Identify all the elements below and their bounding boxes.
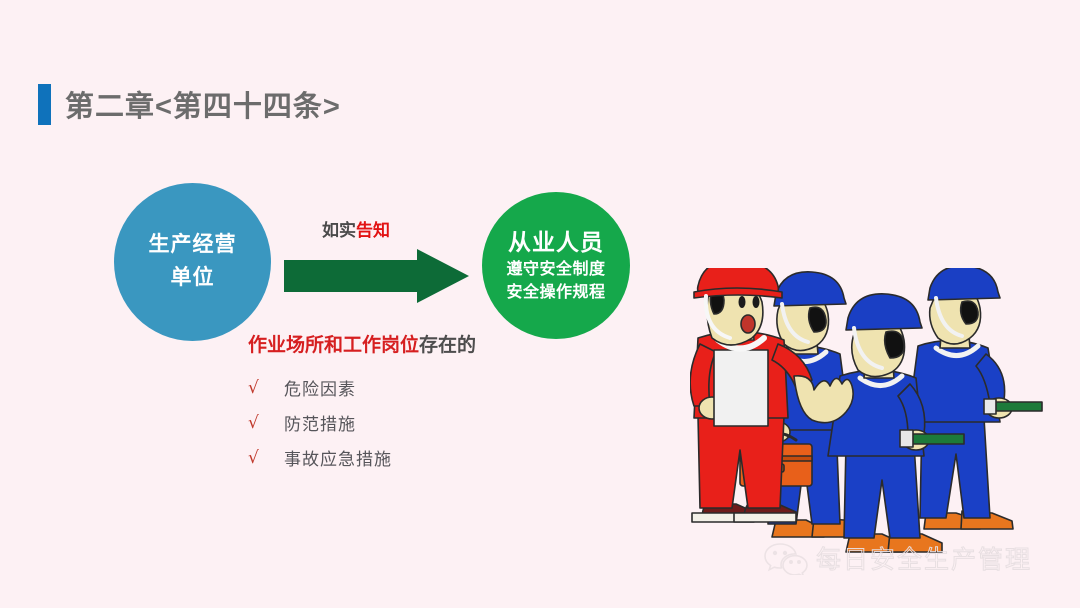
list-item-label: 危险因素 — [284, 375, 356, 400]
diagram-node-source: 生产经营 单位 — [114, 183, 271, 341]
title-accent-bar — [38, 84, 51, 125]
list-item-label: 事故应急措施 — [284, 445, 392, 470]
source-node-line2: 单位 — [171, 262, 215, 295]
arrow-label: 如实告知 — [322, 216, 390, 241]
wechat-icon — [764, 541, 808, 575]
arrow-label-emphasis: 告知 — [356, 221, 390, 240]
page-title: 第二章<第四十四条> — [38, 83, 341, 125]
check-icon: √ — [248, 413, 284, 433]
list-item: √ 事故应急措施 — [248, 440, 528, 475]
target-node-line3: 安全操作规程 — [506, 282, 605, 304]
list-item-label: 防范措施 — [284, 410, 356, 435]
watermark: 每日安全生产管理 — [764, 540, 1032, 576]
list-item: √ 防范措施 — [248, 405, 528, 440]
slide-canvas: 第二章<第四十四条> 生产经营 单位 如实告知 从业人员 遵守安全制度 安全操作… — [0, 0, 1080, 608]
workers-illustration — [690, 268, 1080, 558]
diagram-node-target: 从业人员 遵守安全制度 安全操作规程 — [482, 192, 630, 339]
arrow-icon — [284, 249, 469, 303]
check-icon: √ — [248, 378, 284, 398]
caption-emphasis: 作业场所和工作岗位 — [248, 335, 419, 356]
diagram-arrow — [284, 249, 469, 303]
arrow-label-prefix: 如实 — [322, 221, 356, 240]
target-node-line2: 遵守安全制度 — [506, 259, 605, 281]
blue-worker-back-figure — [908, 268, 1042, 529]
bullet-list: √ 危险因素 √ 防范措施 √ 事故应急措施 — [248, 370, 528, 475]
workers-illustration-svg — [690, 268, 1080, 558]
caption-suffix: 存在的 — [419, 335, 476, 356]
caption: 作业场所和工作岗位存在的 — [248, 330, 476, 357]
source-node-line1: 生产经营 — [149, 229, 237, 262]
check-icon: √ — [248, 448, 284, 468]
target-node-line1: 从业人员 — [508, 227, 604, 258]
list-item: √ 危险因素 — [248, 370, 528, 405]
title-text: 第二章<第四十四条> — [65, 83, 341, 125]
watermark-text: 每日安全生产管理 — [816, 540, 1032, 576]
